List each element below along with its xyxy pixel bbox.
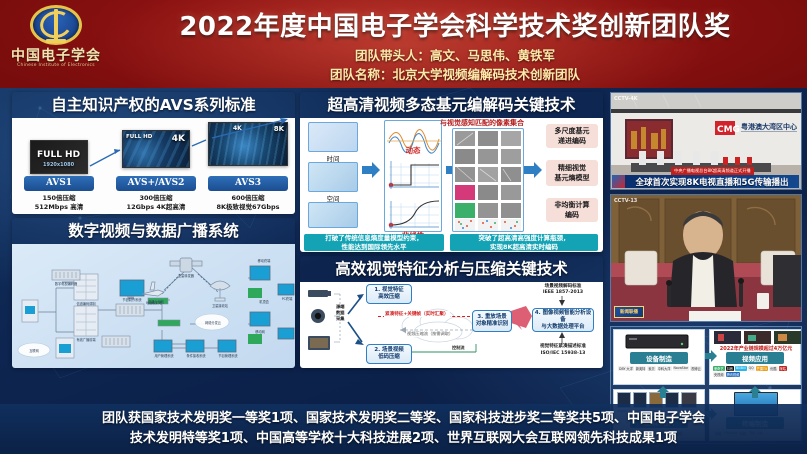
app-vendor-logos: 爱奇艺 抖音 BiliBili QQ 芒果TV 优酷 咪咕 央视频 腾讯视频 — [713, 366, 799, 377]
feature-box-4-text: 4. 图像视频智能分析设备 与大数据处理平台 — [534, 310, 592, 331]
cctv-4k-channel-logo: CCTV-4K — [614, 96, 638, 102]
app-logo-2: BiliBili — [735, 366, 747, 371]
curve-label-dynamic: 动态 — [384, 145, 442, 156]
avs-pill-2: AVS+/AVS2 — [116, 176, 196, 191]
page-title: 2022年度中国电子学会科学技术奖创新团队奖 — [110, 6, 800, 43]
feature-box-3: 3. 重放场景 对象精准识别 — [472, 310, 512, 332]
page-header: 中国电子学会 Chinese Institute of Electronics … — [0, 0, 807, 88]
cctv-13-channel-logo: CCTV-13 — [614, 198, 637, 204]
awards-footer: 团队获国家技术发明奖一等奖1项、国家技术发明奖二等奖、国家科技进步奖二等奖共5项… — [0, 404, 807, 454]
cie-logo: 中国电子学会 Chinese Institute of Electronics — [8, 3, 104, 79]
net-label-13: 条件接收系统 — [180, 353, 212, 358]
team-leader-line: 团队带头人：高文、马思伟、黄铁军 — [110, 45, 800, 64]
equipment-vendor-logos: DBY 大洋 新奥特 索贝 中科大洋 NovaStar 视博云 — [618, 366, 702, 371]
vendor-logo-5: 视博云 — [690, 366, 702, 371]
panel-avs-standards: 自主知识产权的AVS系列标准 FULL HD 1920x1080 FULL HD… — [12, 92, 295, 214]
panel-avs-body: FULL HD 1920x1080 FULL HD 4K 4K 8K — [12, 118, 295, 214]
net-label-7: 地面发射塔 — [136, 300, 172, 305]
equipment-device-icon — [622, 332, 714, 352]
vendor-logo-2: 索贝 — [647, 366, 655, 371]
logo-bar-icon — [54, 9, 58, 41]
avs-caption-3-line2: 8K极致视觉67Gbps — [202, 203, 294, 212]
feature-std-2-name: 视觉特征紧凑描述标准 — [530, 344, 596, 350]
app-logo-3: QQ — [748, 366, 755, 371]
awards-footer-text: 团队获国家技术发明奖一等奖1项、国家技术发明奖二等奖、国家科技进步奖二等奖共5项… — [14, 409, 794, 449]
feature-source-label: 源端 数据 采集 — [336, 304, 350, 322]
vendor-logo-4: NovaStar — [673, 366, 690, 371]
uhd-output-2: 精细视觉 基元熵模型 — [546, 160, 598, 186]
net-label-8: 移动终端 — [240, 258, 288, 263]
logo-chinese-name: 中国电子学会 — [8, 45, 104, 65]
video-app-thumbnails — [712, 331, 802, 345]
app-logo-7: 央视频 — [713, 372, 725, 377]
quad-equipment-label: 设备制造 — [630, 352, 688, 364]
photo-meeting-graphic — [611, 195, 802, 322]
uhd-output-3-text: 非均衡计算 编码 — [555, 200, 590, 220]
uhd-caption-2: 突破了超高清高强度计算瓶颈， 实现8K超高清实时编码 — [450, 234, 598, 251]
uhd-caption-1-text: 打破了传统信息熵度量模型约束， 性能达到国际领先水平 — [325, 234, 423, 252]
panel-feature-analysis: 高效视觉特征分析与压缩关键技术 — [300, 256, 603, 368]
panel-avs-title: 自主知识产权的AVS系列标准 — [12, 92, 295, 118]
net-label-10: PC终端 — [276, 296, 295, 301]
feature-box-1-text: 1. 视觉特征 高效压缩 — [374, 287, 403, 301]
pixel-set-title: 与视觉感知匹配的像素集合 — [440, 118, 524, 128]
panel-broadcast-title: 数字视频与数据广播系统 — [12, 218, 295, 244]
pixel-basis-tiles — [453, 129, 524, 232]
news-photo-meeting: CCTV-13 新闻联播 — [610, 194, 802, 322]
uhd-output-3: 非均衡计算 编码 — [546, 198, 598, 222]
news-lower-third-badge: 新闻联播 — [614, 306, 644, 318]
feature-gray-flow-label: 视频压缩流（按需调取） — [406, 331, 454, 337]
panel-feature-body: 源端 数据 采集 1. 视觉特征 高效压缩 2. 场景视频 低码压缩 3. 重放… — [300, 282, 603, 368]
curve-panel — [384, 120, 442, 232]
feature-std-1-code: IEEE 1857-2013 — [532, 290, 594, 296]
net-label-16: 移动网 — [240, 329, 280, 334]
uhd-output-2-text: 精细视觉 基元熵模型 — [555, 163, 590, 183]
app-logo-1: 抖音 — [726, 366, 734, 371]
net-label-12: 用户管理系统 — [148, 353, 180, 358]
vendor-logo-3: 中科大洋 — [657, 366, 672, 371]
app-logo-6: 咪咕 — [779, 366, 787, 371]
net-label-15: 互联网 — [20, 348, 48, 353]
panel-broadcast-body: 节目制作系统 数字电视编码器 信道编码调制 有线广播前端 卫星上行站 卫星转发器… — [12, 244, 295, 368]
panel-uhd-body: 时间 空间 — [300, 118, 603, 252]
vendor-logo-1: 新奥特 — [635, 366, 647, 371]
quad-equipment: 设备制造 DBY 大洋 新奥特 索贝 中科大洋 NovaStar 视博云 — [613, 329, 705, 385]
app-logo-8: 腾讯视频 — [726, 372, 741, 377]
avs-caption-3-line1: 600倍压缩 — [208, 194, 288, 203]
vendor-logo-0: DBY 大洋 — [618, 366, 634, 371]
quad-video-apps-label: 视频应用 — [726, 352, 784, 364]
feature-box-2: 2. 场景视频 低码压缩 — [366, 344, 412, 364]
panel-uhd-title: 超高清视频多态基元编解码关键技术 — [300, 92, 603, 118]
feature-ctrl-flow-label: 控制流 — [452, 345, 465, 351]
panel-broadcast-system: 数字视频与数据广播系统 — [12, 218, 295, 368]
pixel-set-grid — [452, 128, 524, 232]
avs-caption-1-line1: 150倍压缩 — [24, 194, 94, 203]
team-name-line: 团队名称：北京大学视频编解码技术创新团队 — [110, 64, 800, 83]
svg-text:粤港澳大湾区中心: 粤港澳大湾区中心 — [741, 122, 797, 131]
feature-box-1: 1. 视觉特征 高效压缩 — [366, 284, 412, 304]
news-photo-8k-launch: CMG 粤港澳大湾区中心 CCTV-4K 中央广播电视总台8K超高清频道正式开播… — [610, 92, 802, 190]
feature-std-2-code: ISO/IEC 15938-13 — [530, 351, 596, 357]
news-caption-8k: 全球首次实现8K电视直播和5G传输播出 — [625, 175, 799, 188]
avs-caption-2-line2: 12Gbps 4K超高清 — [112, 203, 200, 212]
logo-english-name: Chinese Institute of Electronics — [8, 63, 104, 68]
avs-pill-3: AVS3 — [208, 176, 288, 191]
feature-box-3-text: 3. 重放场景 对象精准识别 — [476, 314, 508, 328]
news-red-banner: 中央广播电视总台8K超高清频道正式开播 — [671, 167, 754, 175]
net-label-3: 有线广播前端 — [64, 337, 108, 342]
uhd-caption-1: 打破了传统信息熵度量模型约束， 性能达到国际领先水平 — [304, 234, 444, 251]
net-label-6: 卫星接收站 — [200, 303, 240, 308]
news-station-badge — [612, 175, 626, 188]
app-logo-5: 优酷 — [769, 366, 777, 371]
avs-caption-2-line1: 300倍压缩 — [116, 194, 196, 203]
uhd-output-1: 多尺度基元 递进编码 — [546, 124, 598, 148]
curve-graphs — [385, 121, 442, 232]
net-label-2: 信道编码调制 — [64, 301, 108, 306]
app-logo-0: 爱奇艺 — [713, 366, 725, 371]
awards-line-2: 技术发明特等奖1项、中国高等学校十大科技进展2项、世界互联网大会互联网领先科技成… — [14, 429, 794, 449]
awards-line-1: 团队获国家技术发明奖一等奖1项、国家技术发明奖二等奖、国家科技进步奖二等奖共5项… — [14, 409, 794, 429]
net-label-11: 网络分发云 — [196, 320, 230, 325]
feature-red-flow-label: 紧凑特征+关键帧（实时汇聚） — [384, 311, 450, 317]
avs-caption-1-line2: 512Mbps 高清 — [18, 203, 100, 212]
feature-box-4: 4. 图像视频智能分析设备 与大数据处理平台 — [532, 308, 594, 332]
net-label-5: 卫星转发器 — [164, 273, 208, 278]
logo-foot-icon — [46, 39, 66, 43]
net-label-1: 数字电视编码器 — [42, 281, 90, 286]
feature-box-2-text: 2. 场景视频 低码压缩 — [374, 347, 403, 361]
panel-uhd-coding: 超高清视频多态基元编解码关键技术 时间 空间 — [300, 92, 603, 252]
uhd-caption-2-text: 突破了超高清高强度计算瓶颈， 实现8K超高清实时编码 — [479, 234, 570, 252]
poster-body: 自主知识产权的AVS系列标准 FULL HD 1920x1080 FULL HD… — [0, 88, 807, 454]
svg-text:CMG: CMG — [717, 125, 740, 135]
uhd-output-1-text: 多尺度基元 递进编码 — [555, 126, 590, 146]
industry-scale-note: 2022年产业链规模超过4万亿元 — [710, 345, 802, 352]
net-label-14: 节目管理系统 — [212, 353, 244, 358]
avs-pill-1: AVS1 — [24, 176, 94, 191]
app-logo-4: 芒果TV — [756, 366, 769, 371]
quad-video-apps: 2022年产业链规模超过4万亿元 视频应用 爱奇艺 抖音 BiliBili QQ… — [709, 329, 801, 385]
panel-feature-title: 高效视觉特征分析与压缩关键技术 — [300, 256, 603, 282]
